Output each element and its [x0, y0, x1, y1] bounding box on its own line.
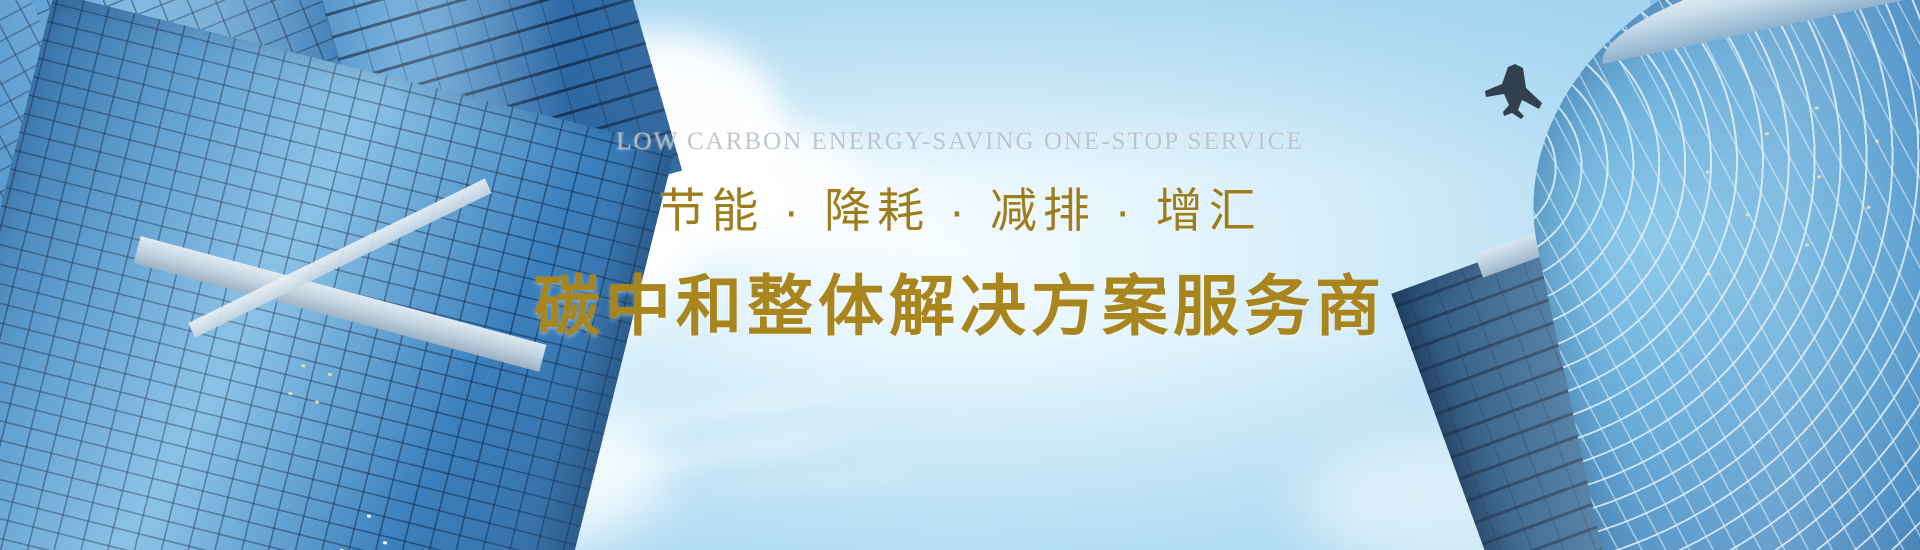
- hero-banner: LOW CARBON ENERGY-SAVING ONE-STOP SERVIC…: [0, 0, 1920, 550]
- airplane-icon: [1482, 58, 1560, 120]
- cloud: [700, 170, 960, 270]
